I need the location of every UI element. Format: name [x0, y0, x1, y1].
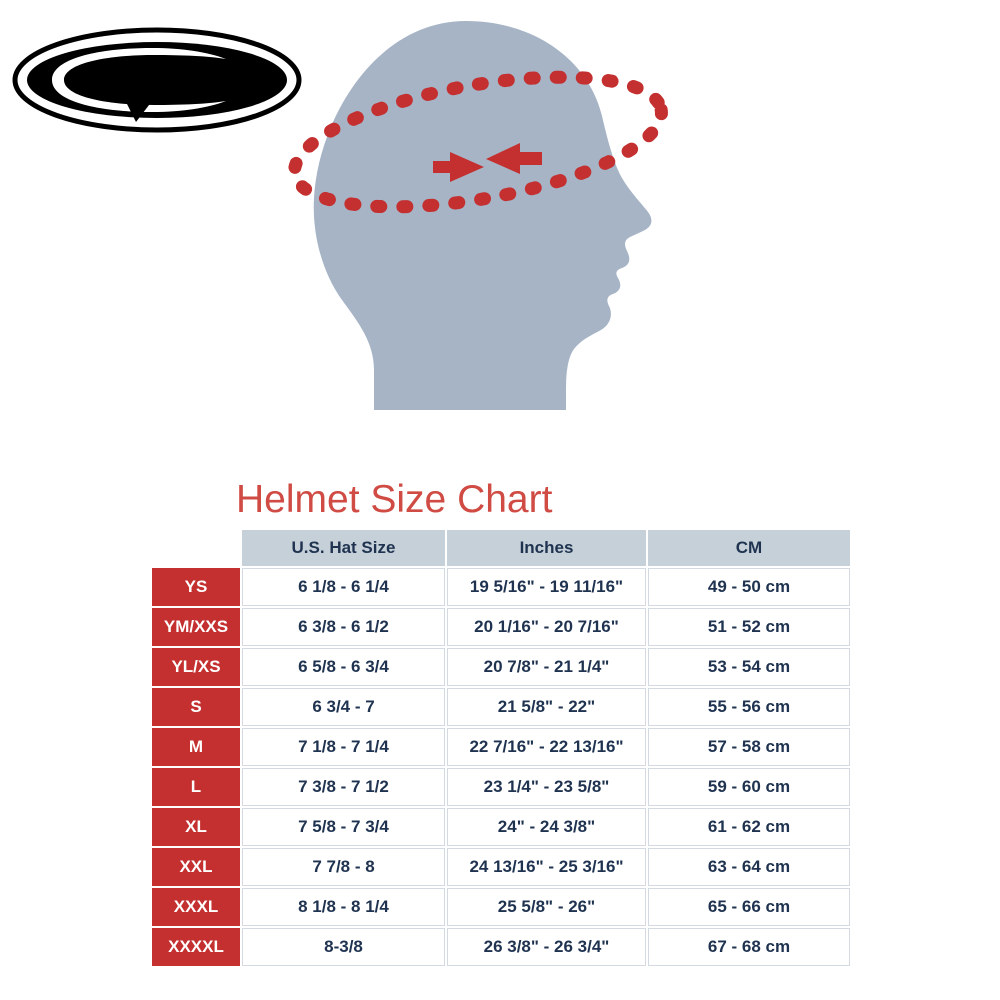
table-row: YM/XXS6 3/8 - 6 1/220 1/16" - 20 7/16"51… — [152, 608, 850, 646]
svg-text:MAX: MAX — [162, 59, 260, 108]
cm-cell: 67 - 68 cm — [648, 928, 850, 966]
hat-size-cell: 6 5/8 - 6 3/4 — [242, 648, 445, 686]
size-label-cell: M — [152, 728, 240, 766]
inches-cell: 19 5/16" - 19 11/16" — [447, 568, 646, 606]
size-label-cell: YM/XXS — [152, 608, 240, 646]
inches-cell: 26 3/8" - 26 3/4" — [447, 928, 646, 966]
header-cm: CM — [648, 530, 850, 566]
size-label-cell: XL — [152, 808, 240, 846]
inches-cell: 20 1/16" - 20 7/16" — [447, 608, 646, 646]
size-label-cell: YS — [152, 568, 240, 606]
cm-cell: 55 - 56 cm — [648, 688, 850, 726]
cm-cell: 53 - 54 cm — [648, 648, 850, 686]
cm-cell: 57 - 58 cm — [648, 728, 850, 766]
table-row: XL7 5/8 - 7 3/424" - 24 3/8"61 - 62 cm — [152, 808, 850, 846]
inches-cell: 21 5/8" - 22" — [447, 688, 646, 726]
size-label-cell: L — [152, 768, 240, 806]
size-label-cell: XXL — [152, 848, 240, 886]
head-measurement-illustration — [270, 12, 740, 442]
inches-cell: 25 5/8" - 26" — [447, 888, 646, 926]
header-blank — [152, 530, 240, 566]
header-us-hat-size: U.S. Hat Size — [242, 530, 445, 566]
hat-size-cell: 8 1/8 - 8 1/4 — [242, 888, 445, 926]
table-row: S6 3/4 - 721 5/8" - 22"55 - 56 cm — [152, 688, 850, 726]
table-row: L7 3/8 - 7 1/223 1/4" - 23 5/8"59 - 60 c… — [152, 768, 850, 806]
hat-size-cell: 6 3/4 - 7 — [242, 688, 445, 726]
size-label-cell: XXXXL — [152, 928, 240, 966]
table-row: M7 1/8 - 7 1/422 7/16" - 22 13/16"57 - 5… — [152, 728, 850, 766]
size-label-cell: YL/XS — [152, 648, 240, 686]
table-row: XXXXL8-3/826 3/8" - 26 3/4"67 - 68 cm — [152, 928, 850, 966]
header-inches: Inches — [447, 530, 646, 566]
table-row: YS6 1/8 - 6 1/419 5/16" - 19 11/16"49 - … — [152, 568, 850, 606]
hat-size-cell: 7 5/8 - 7 3/4 — [242, 808, 445, 846]
size-label-cell: XXXL — [152, 888, 240, 926]
inches-cell: 22 7/16" - 22 13/16" — [447, 728, 646, 766]
cm-cell: 49 - 50 cm — [648, 568, 850, 606]
hat-size-cell: 7 3/8 - 7 1/2 — [242, 768, 445, 806]
hat-size-cell: 6 3/8 - 6 1/2 — [242, 608, 445, 646]
table-row: XXXL8 1/8 - 8 1/425 5/8" - 26"65 - 66 cm — [152, 888, 850, 926]
cm-cell: 61 - 62 cm — [648, 808, 850, 846]
gmax-logo: MAX — [12, 26, 302, 134]
cm-cell: 63 - 64 cm — [648, 848, 850, 886]
table-header-row: U.S. Hat Size Inches CM — [152, 530, 850, 566]
page-title: Helmet Size Chart — [236, 478, 552, 522]
inches-cell: 24" - 24 3/8" — [447, 808, 646, 846]
size-label-cell: S — [152, 688, 240, 726]
table-row: XXL7 7/8 - 824 13/16" - 25 3/16"63 - 64 … — [152, 848, 850, 886]
cm-cell: 59 - 60 cm — [648, 768, 850, 806]
cm-cell: 51 - 52 cm — [648, 608, 850, 646]
hat-size-cell: 7 1/8 - 7 1/4 — [242, 728, 445, 766]
hat-size-cell: 8-3/8 — [242, 928, 445, 966]
cm-cell: 65 - 66 cm — [648, 888, 850, 926]
hat-size-cell: 6 1/8 - 6 1/4 — [242, 568, 445, 606]
inches-cell: 24 13/16" - 25 3/16" — [447, 848, 646, 886]
inches-cell: 23 1/4" - 23 5/8" — [447, 768, 646, 806]
inches-cell: 20 7/8" - 21 1/4" — [447, 648, 646, 686]
hat-size-cell: 7 7/8 - 8 — [242, 848, 445, 886]
helmet-size-table: U.S. Hat Size Inches CM YS6 1/8 - 6 1/41… — [150, 528, 852, 968]
table-row: YL/XS6 5/8 - 6 3/420 7/8" - 21 1/4"53 - … — [152, 648, 850, 686]
gmax-oval-logo: MAX — [12, 26, 302, 134]
